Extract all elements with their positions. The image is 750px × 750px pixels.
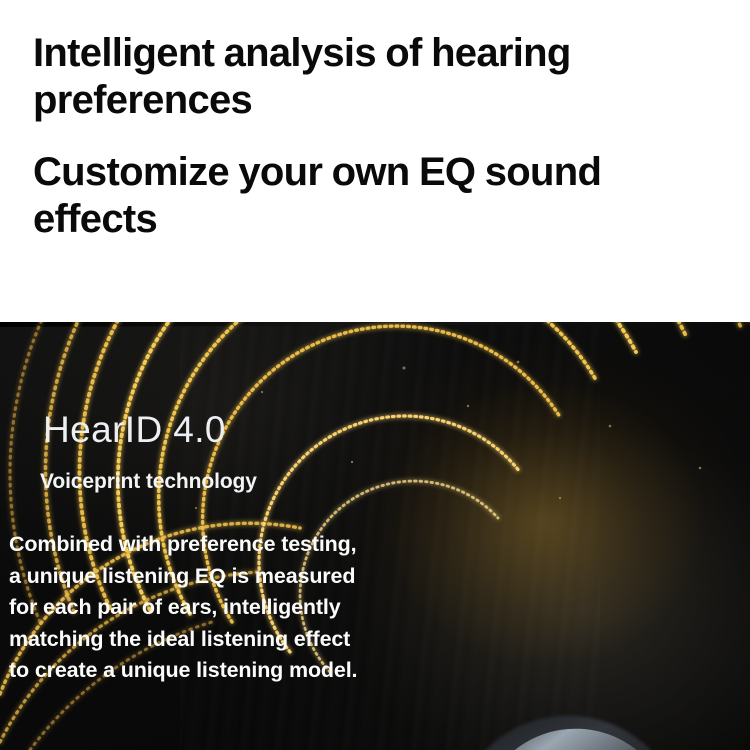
description-line: Combined with preference testing, (9, 529, 429, 561)
panel-copy: HearID 4.0 Voiceprint technology Combine… (0, 322, 430, 750)
product-feature-page: Intelligent analysis of hearing preferen… (0, 0, 750, 750)
product-subtitle: Voiceprint technology (40, 469, 257, 495)
description-line: to create a unique listening model. (9, 655, 429, 687)
product-title: HearID 4.0 (43, 410, 226, 450)
description-line: a unique listening EQ is measured (9, 561, 429, 593)
headline-secondary: Customize your own EQ sound effects (33, 149, 705, 243)
headline-primary: Intelligent analysis of hearing preferen… (33, 30, 705, 124)
headings-section: Intelligent analysis of hearing preferen… (0, 0, 750, 322)
description-line: for each pair of ears, intelligently (9, 592, 429, 624)
description-line: matching the ideal listening effect (9, 624, 429, 656)
product-description: Combined with preference testing, a uniq… (9, 529, 429, 687)
feature-panel: HearID 4.0 Voiceprint technology Combine… (0, 322, 750, 750)
